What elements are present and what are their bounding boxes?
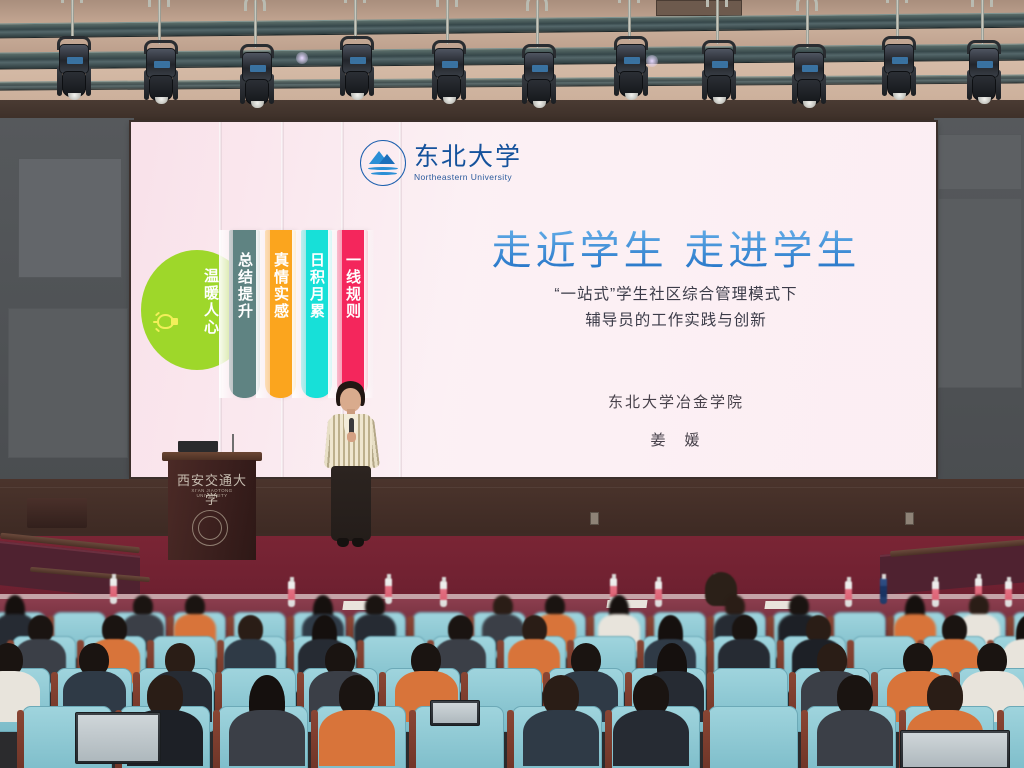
seat-wood-trim [507,710,514,768]
lamp-hook [354,0,357,40]
lamp-flare [296,52,308,64]
auditorium-scene: 东北大学 Northeastern University 温暖人心 总结提升 [0,0,1024,768]
podium-university-en: XI'AN JIAOTONG UNIVERSITY [176,488,248,498]
lamp-hook [981,0,984,44]
auditorium-seat [708,706,798,768]
lamp-flare [646,55,658,67]
presenter-shoe [352,538,364,547]
podium-face: 西安交通大学 XI'AN JIAOTONG UNIVERSITY [168,460,256,560]
slide-subtitle-line2: 辅导员的工作实践与创新 [431,308,921,334]
slide-subtitle: “一站式”学生社区综合管理模式下 辅导员的工作实践与创新 [431,282,921,334]
seat-wood-trim [409,710,416,768]
attendee-laptop [900,730,1010,768]
lamp-hook [716,0,719,44]
podium: 西安交通大学 XI'AN JIAOTONG UNIVERSITY [168,452,256,570]
audience-shoulders [229,710,305,766]
water-bottle [110,578,117,604]
water-bottle [440,581,447,607]
seat-wood-trim [311,710,318,768]
university-seal-icon [192,510,228,546]
presenter-shoe [337,538,349,547]
slide-logo-en: Northeastern University [414,172,522,182]
presenter-speaker [320,378,382,560]
projection-screen: 东北大学 Northeastern University 温暖人心 总结提升 [131,122,936,477]
lamp-hook [896,0,899,40]
floor-monitor-box [27,498,87,528]
slide-affiliation-block: 东北大学冶金学院 姜 媛 [461,384,891,460]
seat-wood-trim [801,710,808,768]
wall-panel [938,134,1022,190]
lamp-hook [254,0,257,48]
attendee-laptop [75,712,161,764]
ribbon-fold [292,230,306,398]
ceiling-shadow-strip [0,100,1024,124]
slide-affiliation: 东北大学冶金学院 [461,384,891,422]
water-bottle [288,581,295,607]
seat-wood-trim [703,710,710,768]
lamp-hook [628,0,631,40]
wall-panel [938,198,1022,388]
front-table-top [0,594,1024,599]
seat-wood-trim [17,710,24,768]
audience-shoulders [319,710,395,766]
water-bottle [932,581,939,607]
slide-title: 走近学生 走进学生 [441,218,911,276]
wall-socket [905,512,914,525]
wall-right [934,118,1024,488]
attendee-laptop [430,700,480,726]
ribbon-fold [364,230,374,398]
slide-presenter-name: 姜 媛 [461,422,891,460]
wall-left [0,118,134,488]
water-bottle [385,578,392,604]
seat-wood-trim [605,710,612,768]
wall-socket [590,512,599,525]
lamp-hook [158,0,161,44]
wall-panel [8,308,128,458]
audience-shoulders [613,710,689,766]
ribbon-fold [328,230,342,398]
lamp-hook [806,0,809,48]
ceiling-vent [656,0,742,16]
podium-laptop [178,441,218,452]
podium-microphone [232,434,234,454]
presenter-skirt [331,466,371,541]
ribbon-fold [256,230,270,398]
lamp-hook [446,0,449,44]
mountain-wave-seal-icon [360,140,406,186]
water-bottle [880,578,887,604]
lamp-hook [536,0,539,48]
water-bottle [845,581,852,607]
slide-subtitle-line1: “一站式”学生社区综合管理模式下 [431,282,921,308]
slide-university-logo: 东北大学 Northeastern University [360,140,522,186]
seat-wood-trim [213,710,220,768]
water-bottle [1005,581,1012,607]
lightbulb-icon [153,312,179,334]
wall-panel [18,158,122,278]
audience-shoulders [523,710,599,766]
water-bottle [655,581,662,607]
lamp-hook [71,0,74,40]
slide-logo-cn: 东北大学 [414,144,522,169]
audience-shoulders [817,710,893,766]
ribbon-fold [219,230,233,398]
presenter-hand [347,432,356,442]
